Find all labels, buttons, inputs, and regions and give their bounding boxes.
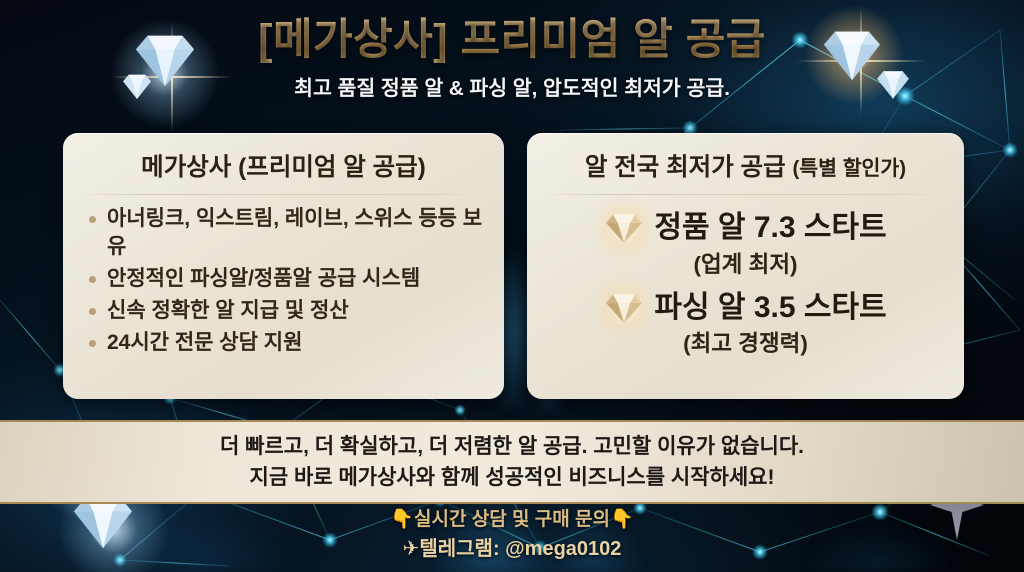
list-item: 신속 정확한 알 지급 및 정산: [87, 297, 486, 325]
diamond-icon: [604, 212, 644, 244]
page-subtitle: 최고 품질 정품 알 & 파싱 알, 압도적인 최저가 공급.: [0, 71, 1024, 101]
pricing-heading-note: (특별 할인가): [792, 157, 906, 180]
offer-main-row: 파싱 알 3.5 스타트: [545, 291, 946, 325]
list-item: 24시간 전문 상담 지원: [87, 329, 486, 357]
offer-main-text: 파싱 알 3.5 스타트: [654, 291, 886, 325]
diamond-icon: [604, 292, 644, 324]
company-card-heading: 메가상사 (프리미엄 알 공급): [81, 147, 486, 194]
offer-main-text: 정품 알 7.3 스타트: [654, 211, 886, 245]
message-band: 더 빠르고, 더 확실하고, 더 저렴한 알 공급. 고민할 이유가 없습니다.…: [0, 420, 1024, 504]
point-down-icon-left: 👇: [390, 508, 414, 530]
offer-main-row: 정품 알 7.3 스타트: [545, 211, 946, 245]
list-item: 아너링크, 익스트림, 레이브, 스위스 등등 보유: [87, 205, 486, 261]
promo-banner: [메가상사] 프리미엄 알 공급 최고 품질 정품 알 & 파싱 알, 압도적인…: [0, 0, 1024, 572]
card-row: 메가상사 (프리미엄 알 공급) 아너링크, 익스트림, 레이브, 스위스 등등…: [0, 133, 1024, 399]
company-feature-list: 아너링크, 익스트림, 레이브, 스위스 등등 보유 안정적인 파싱알/정품알 …: [81, 205, 486, 357]
footer: 👇실시간 상담 및 구매 문의👇 ✈텔레그램: @mega0102: [0, 506, 1024, 563]
pricing-heading-main: 알 전국 최저가 공급: [585, 154, 786, 181]
header: [메가상사] 프리미엄 알 공급 최고 품질 정품 알 & 파싱 알, 압도적인…: [0, 0, 1024, 101]
offer-item-genuine: 정품 알 7.3 스타트 (업계 최저): [545, 211, 946, 278]
card-divider: [545, 194, 946, 195]
band-line-2: 지금 바로 메가상사와 함께 성공적인 비즈니스를 시작하세요!: [250, 462, 775, 493]
pricing-card: 알 전국 최저가 공급 (특별 할인가): [527, 133, 964, 399]
page-title: [메가상사] 프리미엄 알 공급: [0, 16, 1024, 64]
telegram-handle[interactable]: 텔레그램: @mega0102: [419, 538, 621, 560]
footer-contact[interactable]: ✈텔레그램: @mega0102: [0, 534, 1024, 563]
offer-item-parsing: 파싱 알 3.5 스타트 (최고 경쟁력): [545, 291, 946, 358]
point-down-icon-right: 👇: [610, 508, 634, 530]
footer-cta: 👇실시간 상담 및 구매 문의👇: [0, 506, 1024, 534]
company-info-card: 메가상사 (프리미엄 알 공급) 아너링크, 익스트림, 레이브, 스위스 등등…: [63, 133, 504, 399]
airplane-icon: ✈: [403, 536, 420, 560]
list-item: 안정적인 파싱알/정품알 공급 시스템: [87, 265, 486, 293]
pricing-card-heading: 알 전국 최저가 공급 (특별 할인가): [545, 147, 946, 194]
footer-cta-text: 실시간 상담 및 구매 문의: [414, 509, 610, 530]
offer-list: 정품 알 7.3 스타트 (업계 최저): [545, 205, 946, 357]
band-line-1: 더 빠르고, 더 확실하고, 더 저렴한 알 공급. 고민할 이유가 없습니다.: [220, 431, 804, 462]
card-divider: [81, 194, 486, 195]
